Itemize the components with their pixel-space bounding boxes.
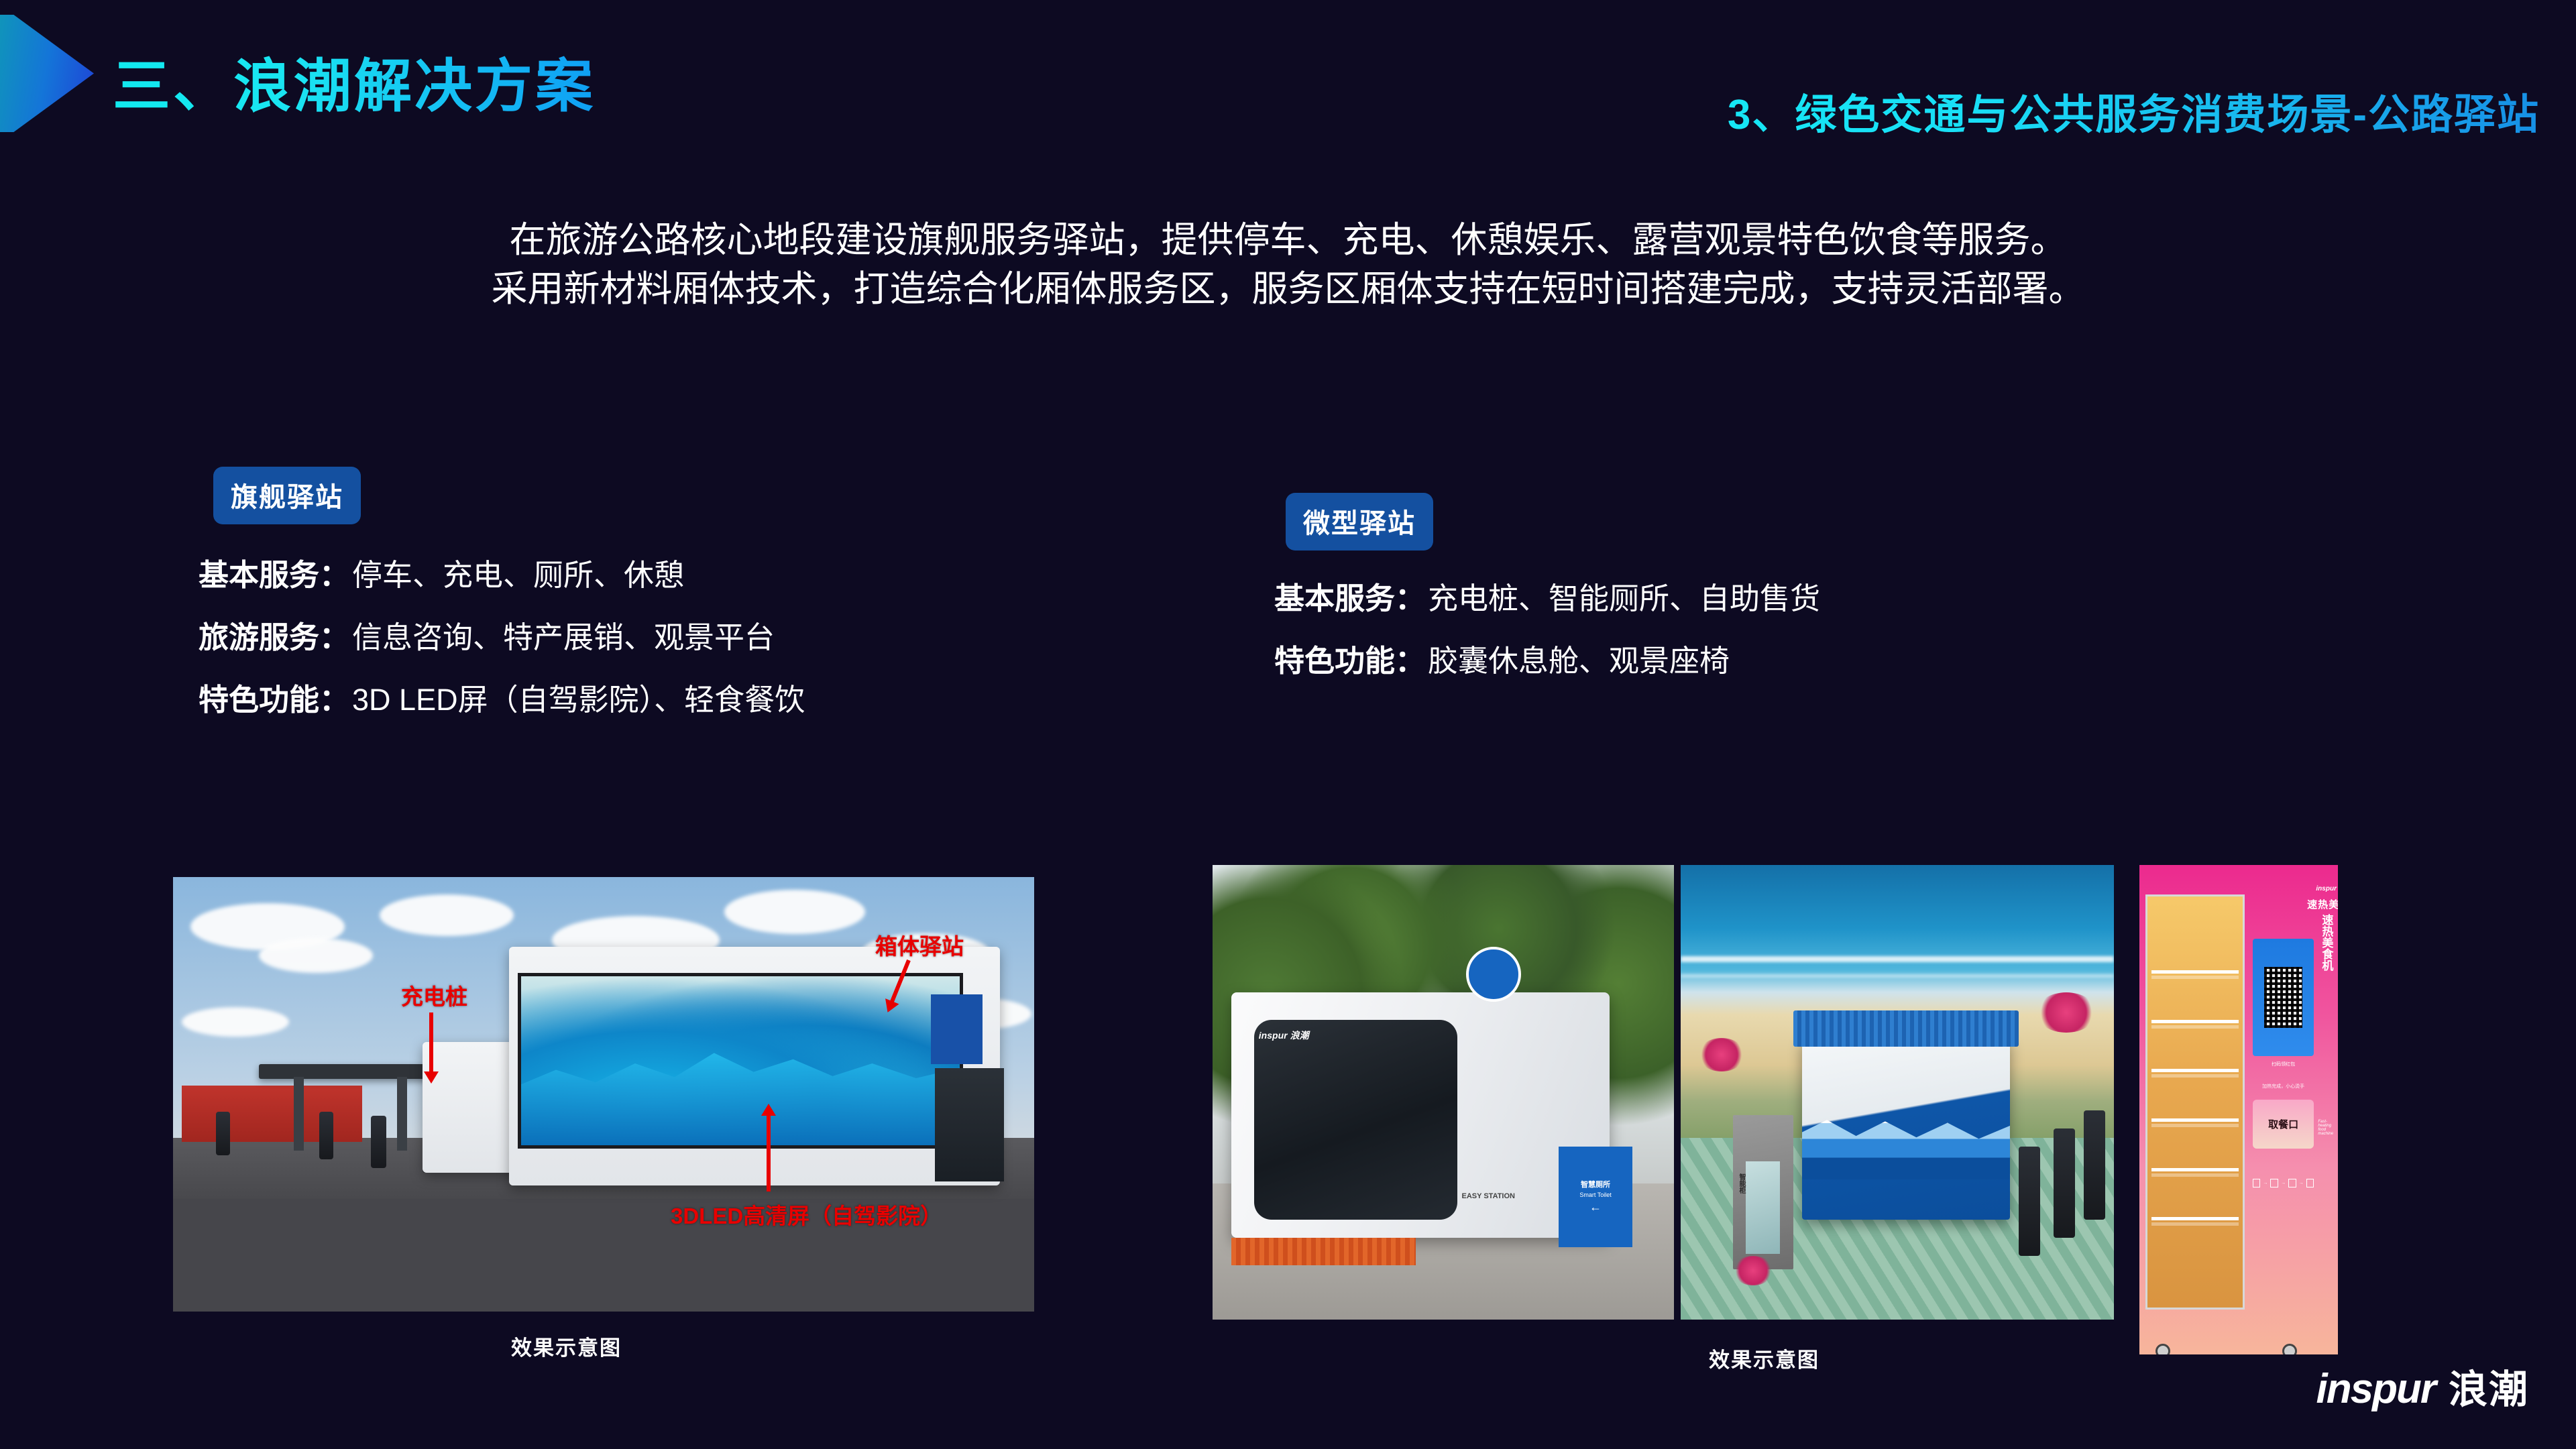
cloud-shape (724, 890, 865, 934)
vending-pickup-door[interactable]: 取餐口 (2253, 1100, 2314, 1149)
flowering-shrub (1698, 1038, 1745, 1071)
smart-toilet-signboard: 智慧厕所 Smart Toilet ← (1559, 1147, 1632, 1247)
cloud-shape (380, 894, 514, 936)
service-key: 特色功能： (199, 685, 349, 715)
toilet-glass-facade (1254, 1020, 1457, 1220)
vending-warning-label: 加热完成，小心烫手 (2253, 1083, 2314, 1090)
service-row: 旅游服务： 信息咨询、特产展销、观景平台 (199, 622, 1205, 652)
caption-micro-photo: 效果示意图 (1709, 1343, 1819, 1373)
sign-label-cn: 智慧厕所 (1581, 1179, 1610, 1190)
step-icon-3 (2288, 1179, 2296, 1187)
vending-touchscreen (2253, 939, 2314, 1056)
step-icon-2 (2270, 1179, 2278, 1187)
badge-micro-station: 微型驿站 (1286, 493, 1433, 550)
vending-brand-label: inspur 浪潮 (2139, 882, 2338, 892)
battery-swap-building (182, 1086, 363, 1142)
header-chevron-decoration (0, 15, 94, 132)
product-shelf (2151, 1217, 2239, 1220)
service-key: 旅游服务： (199, 622, 349, 652)
toilet-easy-station-badge: EASY STATION (1462, 1192, 1515, 1200)
service-row: 特色功能： 胶囊休息舱、观景座椅 (1274, 646, 2280, 676)
locker-glass-door (1746, 1161, 1780, 1254)
intro-line-1: 在旅游公路核心地段建设旗舰服务驿站，提供停车、充电、休憩娱乐、露营观景特色饮食等… (0, 216, 2576, 265)
annotation-arrow-charging-pile (429, 1012, 433, 1073)
charging-pile (2084, 1110, 2105, 1220)
arrow-icon: → (2281, 1181, 2286, 1185)
screen-caption: 扫码领红包 (2253, 1061, 2314, 1067)
service-key: 特色功能： (1274, 646, 1425, 676)
arrow-icon: → (2263, 1181, 2267, 1185)
product-shelf (2151, 1168, 2239, 1171)
brand-logo-en: inspur (2316, 1365, 2435, 1413)
left-arrow-icon: ← (1589, 1200, 1602, 1214)
surf-line (1681, 956, 2114, 962)
flagship-service-list: 基本服务： 停车、充电、厕所、休憩 旅游服务： 信息咨询、特产展销、观景平台 特… (199, 560, 1205, 747)
micro-service-list: 基本服务： 充电桩、智能厕所、自助售货 特色功能： 胶囊休息舱、观景座椅 (1274, 583, 2280, 708)
service-row: 特色功能： 3D LED屏（自驾影院）、轻食餐饮 (199, 685, 1205, 715)
container-station-unit (1802, 1038, 2010, 1220)
charging-pile (2019, 1147, 2040, 1256)
service-key: 基本服务： (199, 560, 349, 590)
vending-side-subtitle-en: Fast-heating food machine (2318, 1120, 2338, 1136)
brand-logo-cn: 浪潮 (2449, 1358, 2529, 1414)
product-shelf (2151, 1069, 2239, 1072)
service-row: 基本服务： 充电桩、智能厕所、自助售货 (1274, 583, 2280, 614)
caster-wheel (2282, 1344, 2297, 1354)
surf-line (1681, 974, 2114, 978)
product-shelf (2151, 1118, 2239, 1122)
vending-side-title: 速热美食机 (2318, 914, 2335, 971)
led-screen-wall (518, 973, 964, 1149)
canopy-pillar (294, 1077, 304, 1151)
photo-beach-container-station: 智能柜 (1681, 865, 2114, 1320)
badge-flagship-station: 旗舰驿站 (213, 467, 361, 524)
flowering-shrub (2036, 992, 2096, 1033)
service-value: 胶囊休息舱、观景座椅 (1428, 646, 1730, 676)
intro-line-2: 采用新材料厢体技术，打造综合化厢体服务区，服务区厢体支持在短时间搭建完成，支持灵… (0, 265, 2576, 314)
annotation-container-station: 箱体驿站 (875, 929, 964, 961)
page-title: 三、浪潮解决方案 (113, 39, 596, 123)
container-roof (1793, 1010, 2019, 1047)
service-value: 信息咨询、特产展销、观景平台 (352, 622, 775, 652)
annotation-charging-pile: 充电桩 (401, 979, 467, 1011)
qr-code-icon[interactable] (2264, 967, 2302, 1028)
intro-paragraph: 在旅游公路核心地段建设旗舰服务驿站，提供停车、充电、休憩娱乐、露营观景特色饮食等… (0, 216, 2576, 314)
smart-locker-pillar: 智能柜 (1733, 1115, 1793, 1270)
vending-usage-steps-icons: → → → (2253, 1169, 2314, 1198)
toilet-logo-disc (1466, 947, 1521, 1002)
flowering-shrub (1733, 1256, 1773, 1285)
vending-product-window (2145, 894, 2245, 1310)
sign-label-en: Smart Toilet (1579, 1192, 1611, 1198)
service-value: 停车、充电、厕所、休憩 (352, 560, 684, 590)
photo-vending-machine: inspur 浪潮 速热美食机 扫码领红包 加热完成，小心烫手 取餐口 → → … (2139, 865, 2338, 1354)
container-wave-graphic (1802, 1107, 2010, 1179)
subsection-title: 3、绿色交通与公共服务消费场景-公路驿站 (1728, 80, 2540, 141)
brand-logo: inspur 浪潮 (2316, 1358, 2529, 1414)
arrow-icon: → (2299, 1181, 2304, 1185)
toilet-brand-label: inspur 浪潮 (1259, 1029, 1309, 1042)
charging-pile (371, 1116, 386, 1168)
led-wave-graphic (521, 1041, 960, 1146)
service-row: 基本服务： 停车、充电、厕所、休憩 (199, 560, 1205, 590)
charging-pile (216, 1112, 230, 1155)
charging-pile (2054, 1128, 2075, 1238)
product-shelf (2151, 1020, 2239, 1023)
station-blue-panel (931, 994, 983, 1064)
charging-pile (319, 1112, 333, 1159)
flower-bed (1231, 1238, 1416, 1265)
locker-label: 智能柜 (1736, 1173, 1746, 1194)
service-value: 充电桩、智能厕所、自助售货 (1428, 583, 1820, 614)
service-key: 基本服务： (1274, 583, 1425, 614)
canopy-pillar (397, 1077, 407, 1151)
photo-smart-toilet: inspur 浪潮 EASY STATION 智慧厕所 Smart Toilet… (1213, 865, 1674, 1320)
service-value: 3D LED屏（自驾影院）、轻食餐饮 (352, 685, 805, 715)
annotation-led-screen: 3DLED高清屏（自驾影院） (671, 1198, 942, 1230)
caster-wheel (2155, 1344, 2170, 1354)
caption-flagship-photo: 效果示意图 (511, 1331, 622, 1361)
cloud-shape (259, 938, 373, 973)
product-shelf (2151, 970, 2239, 974)
annotation-arrow-led-screen (767, 1114, 771, 1192)
step-icon-1 (2253, 1179, 2261, 1187)
step-icon-4 (2306, 1179, 2314, 1187)
vending-title: 速热美食机 (2139, 897, 2338, 911)
station-glass-entrance (935, 1068, 1004, 1181)
